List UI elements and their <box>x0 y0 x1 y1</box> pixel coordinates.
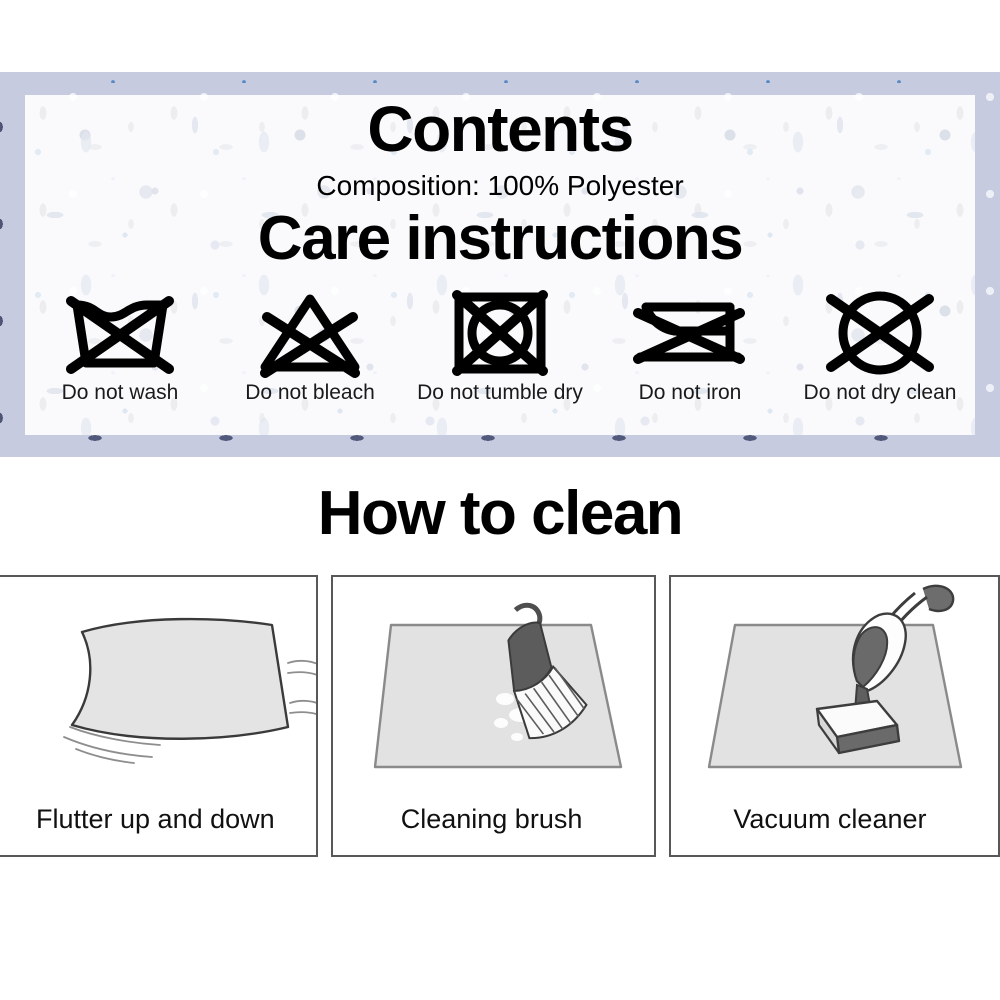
care-instructions-banner: Contents Composition: 100% Polyester Car… <box>0 72 1000 457</box>
how-to-clean-panels: Flutter up and down <box>0 575 1000 857</box>
care-content-panel: Contents Composition: 100% Polyester Car… <box>25 95 975 435</box>
clean-panel-brush: Cleaning brush <box>331 575 657 857</box>
care-symbol-do-not-iron: Do not iron <box>595 285 785 403</box>
care-symbol-label: Do not dry clean <box>785 382 975 403</box>
do-not-iron-icon <box>595 285 785 380</box>
care-symbol-do-not-tumble-dry: Do not tumble dry <box>405 285 595 403</box>
care-symbol-row: Do not wash Do not bleach <box>25 285 975 403</box>
contents-heading: Contents <box>25 97 975 161</box>
care-symbol-label: Do not tumble dry <box>405 382 595 403</box>
do-not-bleach-icon <box>215 285 405 380</box>
do-not-wash-icon <box>25 285 215 380</box>
clean-panel-flutter: Flutter up and down <box>0 575 318 857</box>
care-symbol-do-not-bleach: Do not bleach <box>215 285 405 403</box>
clean-panel-caption: Vacuum cleaner <box>671 806 1000 833</box>
do-not-tumble-dry-icon <box>405 285 595 380</box>
care-symbol-do-not-dry-clean: Do not dry clean <box>785 285 975 403</box>
care-symbol-label: Do not bleach <box>215 382 405 403</box>
clean-panel-caption: Cleaning brush <box>333 806 657 833</box>
care-symbol-label: Do not wash <box>25 382 215 403</box>
vacuum-cleaner-icon <box>671 577 998 792</box>
do-not-dry-clean-icon <box>785 285 975 380</box>
clean-panel-caption: Flutter up and down <box>0 806 318 833</box>
care-symbol-do-not-wash: Do not wash <box>25 285 215 403</box>
cleaning-brush-icon <box>333 577 655 792</box>
fluttering-sheet-icon <box>0 577 316 792</box>
clean-panel-vacuum: Vacuum cleaner <box>669 575 1000 857</box>
care-symbol-label: Do not iron <box>595 382 785 403</box>
composition-text: Composition: 100% Polyester <box>25 172 975 200</box>
care-instructions-heading: Care instructions <box>25 208 975 270</box>
how-to-clean-heading: How to clean <box>0 483 1000 545</box>
